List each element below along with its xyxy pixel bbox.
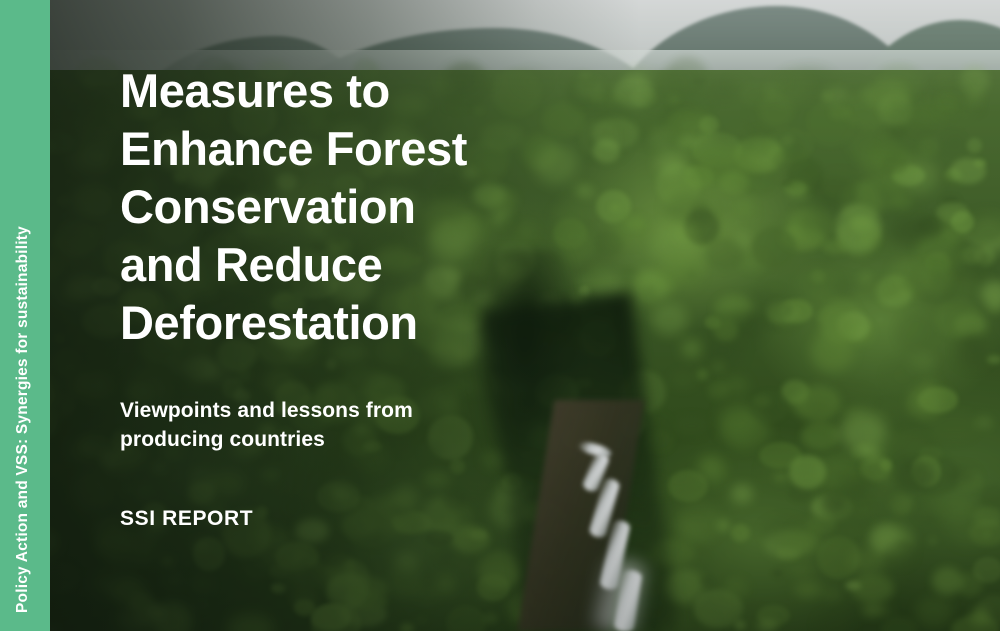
leaf-clump [752, 227, 796, 269]
leaf-clump [78, 433, 110, 456]
leaf-clump [56, 196, 71, 206]
leaf-clump [723, 377, 748, 394]
leaf-clump [712, 361, 725, 374]
leaf-clump [240, 559, 268, 580]
waterfall-mist [591, 557, 647, 631]
leaf-clump [89, 568, 137, 599]
leaf-clump [72, 184, 113, 217]
leaf-clump [81, 74, 99, 88]
leaf-clump [483, 613, 497, 624]
leaf-clump [153, 602, 192, 631]
leaf-clump [720, 172, 749, 194]
leaf-clump [470, 530, 488, 540]
leaf-clump [80, 404, 110, 421]
leaf-clump [682, 340, 700, 357]
leaf-clump [69, 119, 81, 128]
leaf-clump [690, 204, 712, 224]
leaf-clump [770, 283, 782, 291]
leaf-clump [51, 350, 78, 374]
leaf-clump [781, 532, 813, 551]
leaf-clump [796, 204, 831, 237]
leaf-clump [59, 140, 70, 148]
leaf-clump [414, 615, 428, 625]
leaf-clump [788, 185, 809, 199]
page-subtitle: Viewpoints and lessons from producing co… [120, 396, 680, 454]
leaf-clump [731, 484, 753, 504]
leaf-clump [54, 221, 97, 257]
leaf-clump [226, 614, 274, 631]
leaf-clump [773, 473, 789, 482]
leaf-clump [437, 548, 455, 565]
leaf-clump [718, 310, 743, 327]
leaf-clump [772, 569, 783, 578]
leaf-clump [790, 563, 813, 577]
report-kicker: SSI REPORT [120, 507, 680, 531]
leaf-clump [697, 369, 708, 380]
leaf-clump [73, 372, 111, 400]
cover-text-block: Measures to Enhance Forest Conservation … [120, 62, 680, 531]
leaf-clump [71, 471, 112, 512]
series-spine: Policy Action and VSS: Synergies for sus… [0, 0, 50, 631]
leaf-clump [163, 573, 184, 588]
leaf-clump [54, 334, 64, 345]
leaf-clump [749, 390, 789, 424]
leaf-clump [743, 128, 772, 157]
series-label: Policy Action and VSS: Synergies for sus… [14, 226, 32, 613]
leaf-clump [699, 116, 720, 133]
page-title: Measures to Enhance Forest Conservation … [120, 62, 680, 352]
leaf-clump [400, 623, 414, 631]
leaf-clump [93, 346, 109, 360]
leaf-clump [193, 541, 209, 552]
leaf-clump [789, 455, 826, 489]
report-cover: Policy Action and VSS: Synergies for sus… [0, 0, 1000, 631]
leaf-clump [794, 581, 822, 597]
leaf-clump [53, 287, 82, 305]
leaf-clump [759, 94, 794, 128]
leaf-clump [757, 605, 791, 626]
leaf-clump [469, 542, 483, 554]
leaf-clump [350, 577, 389, 601]
leaf-clump [191, 598, 211, 612]
leaf-clump [767, 301, 794, 319]
leaf-clump [717, 519, 730, 532]
leaf-clump [446, 605, 486, 631]
leaf-clump [477, 551, 520, 590]
leaf-clump [161, 557, 174, 567]
leaf-clump [71, 148, 111, 172]
leaf-clump [191, 576, 213, 593]
leaf-clump [773, 149, 808, 172]
leaf-clump [731, 524, 750, 542]
leaf-clump [129, 544, 164, 565]
leaf-clump [782, 135, 794, 146]
leaf-clump [701, 576, 712, 586]
leaf-clump [777, 73, 790, 87]
leaf-clump [437, 576, 454, 592]
